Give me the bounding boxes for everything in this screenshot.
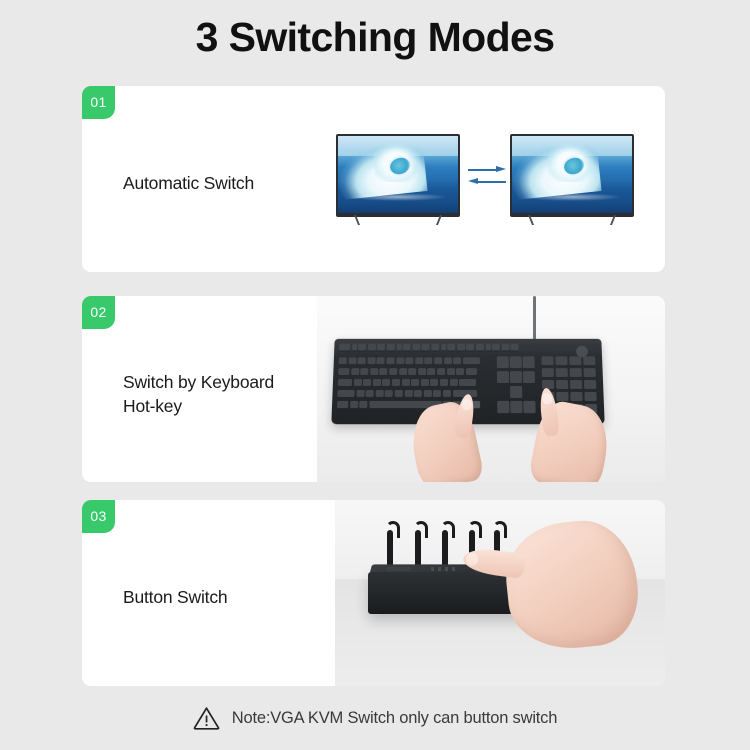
card-label-keyboard-hotkey: Switch by Keyboard Hot-key	[123, 370, 274, 418]
card-badge-03: 03	[82, 500, 115, 533]
card-label-button-switch: Button Switch	[123, 585, 227, 609]
tv-screen-left	[338, 136, 458, 213]
fingernail	[542, 393, 553, 405]
switching-mode-card-2: 02 Switch by Keyboard Hot-key	[82, 296, 665, 482]
card-badge-02: 02	[82, 296, 115, 329]
arrow-shaft	[468, 169, 496, 172]
card-label-line-1: Switch by Keyboard	[123, 370, 274, 394]
warning-triangle-icon	[193, 706, 220, 730]
arrow-left-icon	[468, 178, 506, 185]
arrow-head	[496, 166, 506, 172]
kvm-brand-label	[387, 567, 411, 571]
keyboard-qwerty-row	[338, 368, 477, 376]
fingernail	[465, 552, 479, 567]
arrow-head	[468, 178, 478, 184]
note-text: Note:VGA KVM Switch only can button swit…	[232, 709, 557, 728]
keyboard-shift-row	[337, 390, 476, 398]
illustration-kvm-switch-hand	[335, 500, 665, 686]
keyboard-navigation-cluster	[497, 356, 536, 414]
tv-bezel-left	[336, 134, 460, 217]
screen-wave-foam	[348, 193, 449, 201]
hand-pressing-button	[501, 516, 643, 655]
tv-screen-right	[512, 136, 632, 213]
screen-wave-foam	[522, 193, 623, 201]
footer-note: Note:VGA KVM Switch only can button swit…	[0, 706, 750, 730]
card-label-automatic-switch: Automatic Switch	[123, 171, 254, 195]
kvm-status-leds	[431, 567, 459, 571]
television-right	[510, 134, 634, 217]
switching-mode-card-3: 03 Button Switch	[82, 500, 665, 686]
arrow-right-icon	[468, 166, 506, 173]
keyboard-number-row	[339, 357, 480, 365]
illustration-two-televisions	[320, 86, 665, 272]
illustration-keyboard-hands	[317, 296, 665, 482]
bidirectional-arrows	[468, 166, 506, 188]
card-label-line-2: Hot-key	[123, 394, 274, 418]
card-badge-01: 01	[82, 86, 115, 119]
keyboard-cable	[533, 296, 536, 340]
switching-mode-card-1: 01 Automatic Switch	[82, 86, 665, 272]
television-left	[336, 134, 460, 217]
keyboard-home-row	[338, 379, 476, 387]
tv-bezel-right	[510, 134, 634, 217]
page-title: 3 Switching Modes	[0, 14, 750, 61]
arrow-shaft	[478, 181, 506, 184]
keyboard-function-row	[339, 344, 519, 352]
fingernail	[461, 398, 473, 410]
